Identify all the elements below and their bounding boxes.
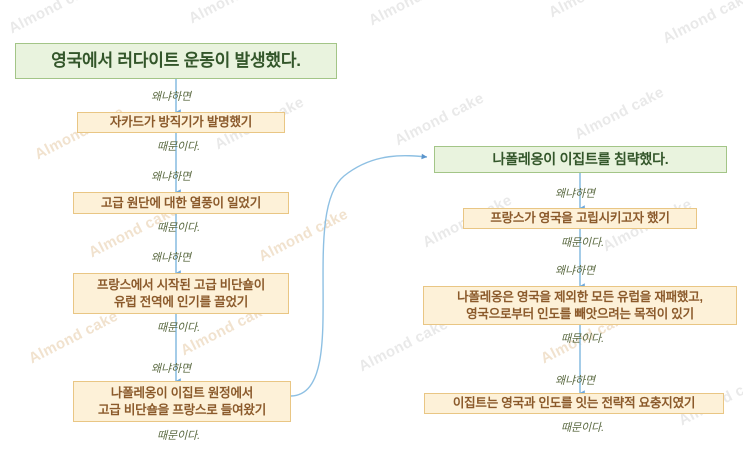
watermark: Almond cake (26, 308, 121, 368)
node-left-step-2[interactable]: 고급 원단에 대한 열풍이 일었기 (73, 192, 289, 214)
node-right-root[interactable]: 나폴레옹이 이집트를 침략했다. (434, 146, 727, 173)
edge-label-therefore: 때문이다. (157, 138, 200, 154)
edge-label-therefore: 때문이다. (157, 319, 200, 335)
edge-label-because: 왜냐하면 (151, 168, 191, 184)
watermark: Almond cake (366, 0, 461, 29)
watermark: Almond cake (572, 84, 667, 144)
edge-label-because: 왜냐하면 (151, 360, 191, 376)
edge-label-therefore: 때문이다. (561, 419, 604, 435)
edge-label-therefore: 때문이다. (157, 427, 200, 443)
edge-label-because: 왜냐하면 (555, 262, 595, 278)
connector-cross-link (291, 156, 427, 396)
edge-label-therefore: 때문이다. (157, 219, 200, 235)
watermark: Almond cake (546, 0, 641, 21)
edge-label-because: 왜냐하면 (555, 372, 595, 388)
watermark: Almond cake (186, 0, 281, 27)
watermark: Almond cake (256, 206, 351, 266)
node-right-step-2[interactable]: 나폴레옹은 영국을 제외한 모든 유럽을 재패했고, 영국으로부터 인도를 빼앗… (423, 286, 737, 325)
edge-label-therefore: 때문이다. (561, 234, 604, 250)
node-right-step-3[interactable]: 이집트는 영국과 인도를 잇는 전략적 요충지였기 (424, 393, 724, 414)
node-left-step-1[interactable]: 자카드가 방직기가 발명했기 (77, 112, 285, 133)
watermark: Almond cake (660, 0, 743, 47)
diagram-canvas: Almond cake Almond cake Almond cake Almo… (0, 0, 743, 465)
node-left-root[interactable]: 영국에서 러다이트 운동이 발생했다. (15, 43, 337, 79)
watermark: Almond cake (6, 0, 101, 37)
edge-label-because: 왜냐하면 (555, 185, 595, 201)
edge-label-therefore: 때문이다. (561, 330, 604, 346)
edge-label-because: 왜냐하면 (151, 88, 191, 104)
edge-label-because: 왜냐하면 (151, 249, 191, 265)
node-right-step-1[interactable]: 프랑스가 영국을 고립시키고자 했기 (463, 208, 697, 229)
node-left-step-3[interactable]: 프랑스에서 시작된 고급 비단숄이 유럽 전역에 인기를 끌었기 (73, 273, 289, 314)
node-left-step-4[interactable]: 나폴레옹이 이집트 원정에서 고급 비단숄을 프랑스로 들여왔기 (73, 381, 291, 422)
watermark: Almond cake (392, 90, 487, 150)
